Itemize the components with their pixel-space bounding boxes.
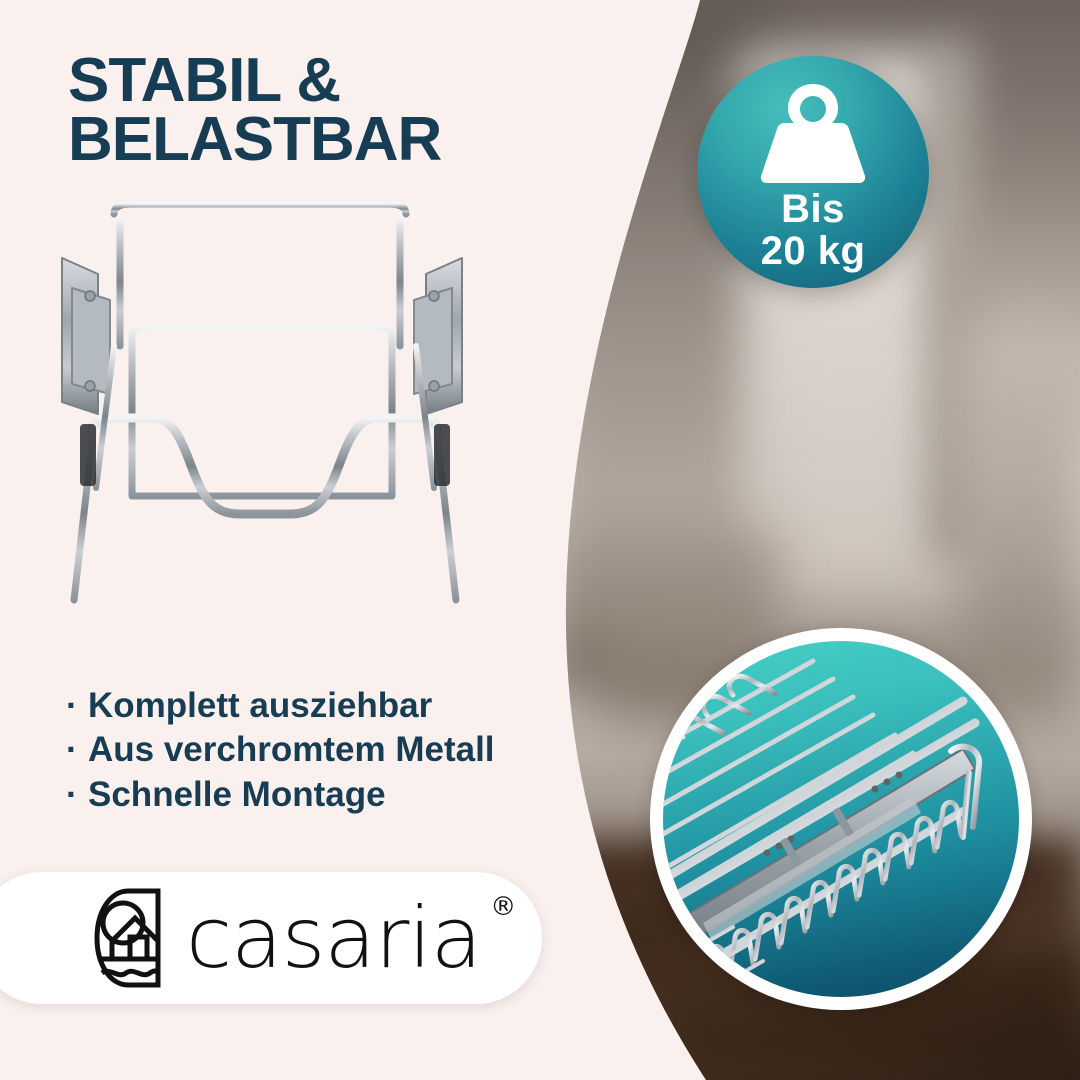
- banner-root: STABIL & BELASTBAR: [0, 0, 1080, 1080]
- weight-capacity-badge: Bis 20 kg: [697, 56, 929, 288]
- feature-list: · Komplett ausziehbar · Aus verchromtem …: [66, 684, 626, 817]
- feature-item-3: · Schnelle Montage: [66, 773, 626, 817]
- casaria-logo-icon: [92, 885, 164, 991]
- weight-icon: [758, 78, 868, 186]
- feature-item-1: · Komplett ausziehbar: [66, 684, 626, 728]
- product-detail-photo: [663, 641, 1019, 997]
- bullet-dot-icon: ·: [66, 773, 88, 817]
- product-detail-inset: [650, 628, 1032, 1010]
- bullet-dot-icon: ·: [66, 684, 88, 728]
- brand-name-text: casaria: [186, 889, 481, 987]
- bullet-dot-icon: ·: [66, 728, 88, 772]
- feature-label-1: Komplett ausziehbar: [88, 684, 432, 728]
- badge-line-2: 20 kg: [697, 230, 929, 272]
- feature-item-2: · Aus verchromtem Metall: [66, 728, 626, 772]
- brand-logo-pill: casaria®: [0, 872, 542, 1004]
- badge-line-1: Bis: [697, 188, 929, 230]
- feature-label-2: Aus verchromtem Metall: [88, 728, 495, 772]
- registered-trademark-icon: ®: [490, 894, 515, 920]
- page-title: STABIL & BELASTBAR: [68, 52, 608, 170]
- feature-label-3: Schnelle Montage: [88, 773, 386, 817]
- product-hero-image: [52, 196, 502, 666]
- badge-text: Bis 20 kg: [697, 188, 929, 273]
- brand-wordmark: casaria®: [186, 896, 481, 980]
- headline-line-2: BELASTBAR: [68, 111, 608, 170]
